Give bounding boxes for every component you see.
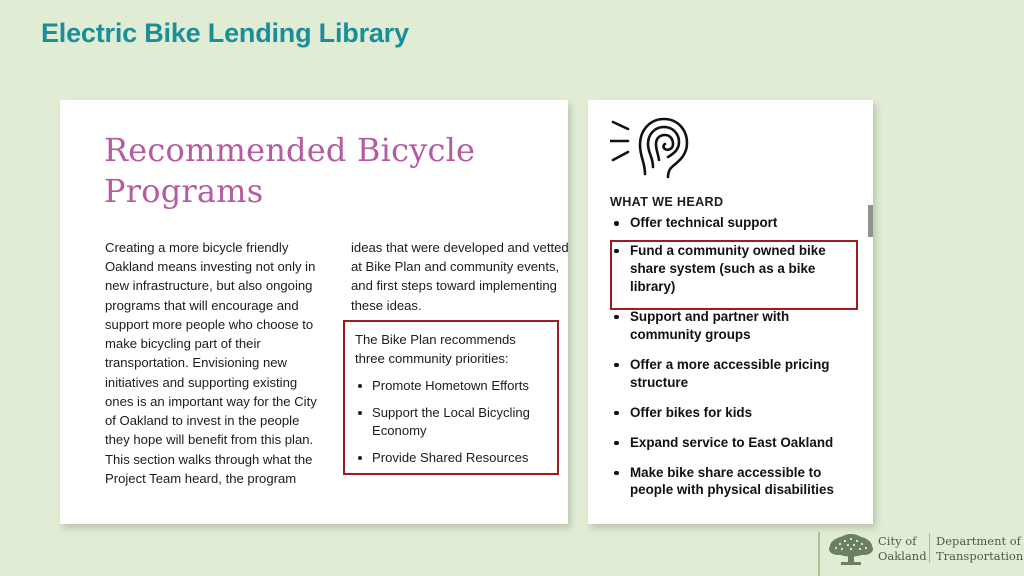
list-item: Make bike share accessible to people wit… [610, 464, 858, 500]
community-priorities-box: The Bike Plan recommends three community… [343, 320, 559, 475]
list-item: Provide Shared Resources [355, 449, 549, 467]
footer-divider [818, 532, 820, 576]
programs-heading: Recommended Bicycle Programs [104, 130, 524, 211]
page-title: Electric Bike Lending Library [41, 18, 409, 49]
list-item-highlighted: Fund a community owned bike share system… [610, 242, 858, 296]
what-we-heard-label: WHAT WE HEARD [610, 195, 723, 209]
programs-body-right-column: ideas that were developed and vetted at … [351, 238, 569, 315]
footer-city-of-oakland-text: City of Oakland [878, 534, 927, 564]
list-item: Offer a more accessible pricing structur… [610, 356, 858, 392]
what-we-heard-list: Offer technical support Fund a community… [610, 214, 858, 499]
recommended-programs-card: Recommended Bicycle Programs Creating a … [60, 100, 568, 524]
what-we-heard-card: WHAT WE HEARD Offer technical support Fu… [588, 100, 873, 524]
list-item: Expand service to East Oakland [610, 434, 858, 452]
list-item: Support the Local Bicycling Economy [355, 404, 549, 440]
scrollbar[interactable] [868, 205, 873, 237]
community-priorities-intro: The Bike Plan recommends three community… [355, 331, 549, 369]
list-item: Promote Hometown Efforts [355, 377, 549, 395]
oakland-oak-tree-icon [828, 533, 874, 567]
list-item: Offer bikes for kids [610, 404, 858, 422]
footer-inner-divider [929, 533, 930, 563]
community-priorities-list: Promote Hometown Efforts Support the Loc… [355, 377, 549, 467]
list-item: Offer technical support [610, 214, 858, 232]
footer-department-text: Department of Transportation [936, 534, 1023, 564]
ear-listening-icon [610, 112, 702, 184]
list-item: Support and partner with community group… [610, 308, 858, 344]
programs-body-left-column: Creating a more bicycle friendly Oakland… [105, 238, 327, 488]
